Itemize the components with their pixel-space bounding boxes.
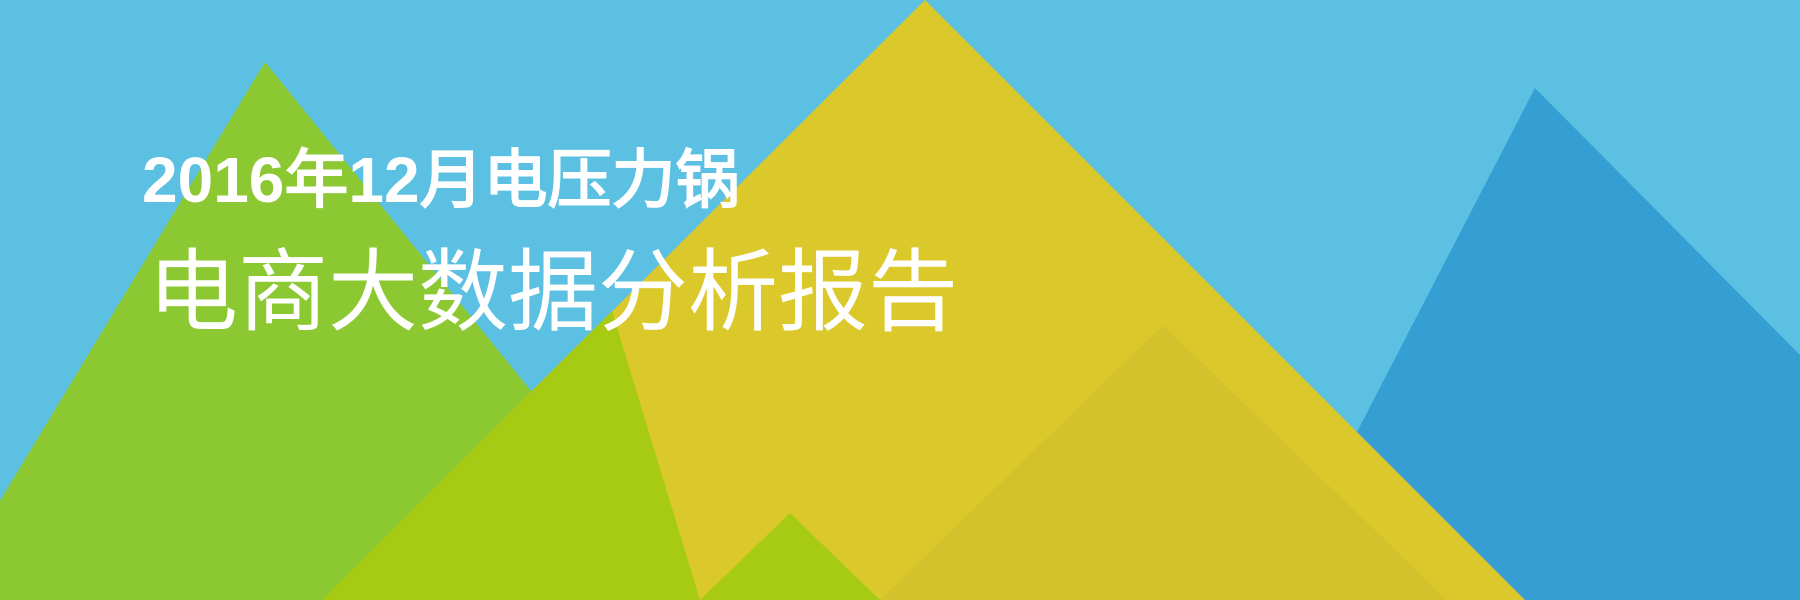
- report-cover-banner: 2016年12月电压力锅 电商大数据分析报告: [0, 0, 1800, 600]
- geometric-background: [0, 0, 1800, 600]
